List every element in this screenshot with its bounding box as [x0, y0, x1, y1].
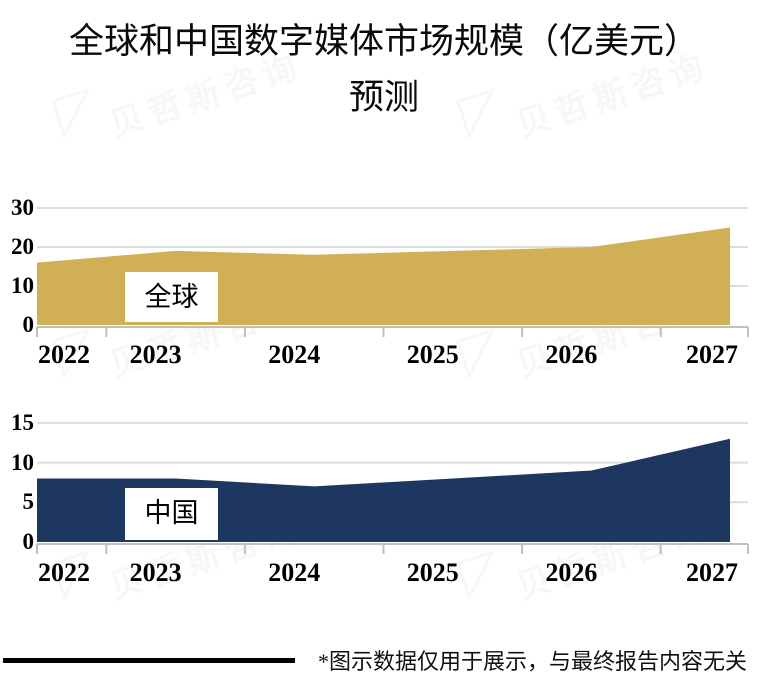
y-axis-tick-label: 0 — [4, 313, 34, 336]
chart-title: 全球和中国数字媒体市场规模（亿美元） 预测 — [0, 14, 768, 126]
x-axis-tick-label: 2023 — [130, 558, 182, 588]
series-label-china: 中国 — [125, 488, 218, 540]
x-axis-tick-label: 2027 — [686, 340, 738, 370]
x-axis-tick-label: 2024 — [268, 340, 320, 370]
chart-title-line-2: 预测 — [0, 70, 768, 126]
y-axis-china: 051015 — [0, 400, 34, 590]
y-axis-global: 0102030 — [0, 185, 34, 370]
x-axis-tick-label: 2026 — [545, 558, 597, 588]
chart-china: 051015 中国 202220232024202520262027 — [0, 400, 768, 590]
chart-global: 0102030 全球 202220232024202520262027 — [0, 185, 768, 370]
footer-divider — [3, 658, 295, 663]
series-label-global: 全球 — [125, 272, 218, 322]
footer: *图示数据仅用于展示，与最终报告内容无关 — [0, 630, 768, 688]
x-axis-tick-label: 2025 — [407, 558, 459, 588]
plot-area-global — [0, 185, 768, 370]
chart-title-line-1: 全球和中国数字媒体市场规模（亿美元） — [0, 14, 768, 70]
y-axis-tick-label: 0 — [4, 530, 34, 553]
footer-note: *图示数据仅用于展示，与最终报告内容无关 — [318, 644, 747, 676]
x-axis-tick-label: 2023 — [130, 340, 182, 370]
x-axis-tick-label: 2026 — [545, 340, 597, 370]
y-axis-tick-label: 20 — [4, 235, 34, 258]
y-axis-tick-label: 30 — [4, 196, 34, 219]
plot-area-china — [0, 400, 768, 590]
y-axis-tick-label: 5 — [4, 490, 34, 513]
y-axis-tick-label: 15 — [4, 411, 34, 434]
x-axis-tick-label: 2022 — [38, 340, 90, 370]
x-axis-tick-label: 2024 — [268, 558, 320, 588]
y-axis-tick-label: 10 — [4, 451, 34, 474]
x-axis-tick-label: 2025 — [407, 340, 459, 370]
x-axis-tick-label: 2022 — [38, 558, 90, 588]
y-axis-tick-label: 10 — [4, 274, 34, 297]
x-axis-tick-label: 2027 — [686, 558, 738, 588]
